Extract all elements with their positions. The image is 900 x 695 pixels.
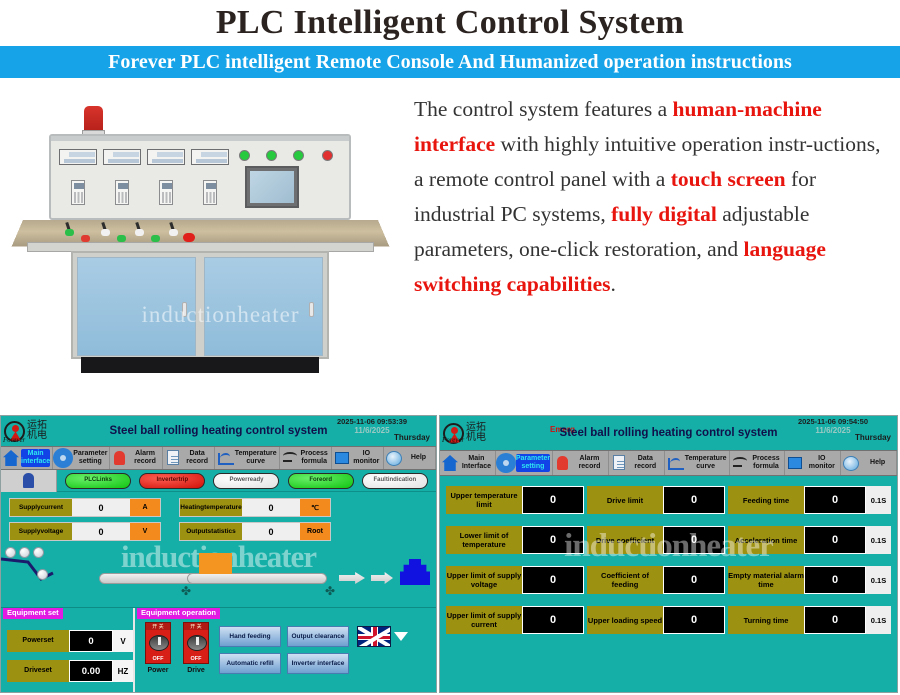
keypad-icon bbox=[159, 180, 173, 205]
power-knob-state: OFF bbox=[146, 656, 170, 662]
monitor-icon bbox=[334, 450, 350, 466]
param-label: Drive coefficient bbox=[587, 526, 663, 554]
power-knob-top-label: 开 关 bbox=[146, 623, 170, 630]
param-feeding-time[interactable]: Feeding time 0 0.1S bbox=[728, 486, 891, 514]
emergency-stop-icon bbox=[183, 226, 192, 239]
hmi-right-titlebar: 运拓 机电 Forever Emerg Steel ball rolling h… bbox=[440, 416, 897, 450]
meter-icon bbox=[191, 149, 229, 165]
param-value[interactable]: 0 bbox=[522, 606, 584, 634]
readout-unit: V bbox=[130, 523, 160, 540]
hmi-right-clock: 2025-11-06 09:54:50 11/6/2025 Thursday bbox=[773, 417, 893, 435]
monitor-icon bbox=[787, 455, 803, 471]
formula-icon bbox=[732, 455, 748, 471]
para-highlight-fully-digital: fully digital bbox=[611, 202, 717, 226]
keypad-icon bbox=[203, 180, 217, 205]
nav-label: Temperaturecurve bbox=[685, 455, 727, 471]
param-label: Acceleration time bbox=[728, 526, 804, 554]
param-value[interactable]: 0 bbox=[804, 606, 866, 634]
param-upper-limit-of-supply-voltage[interactable]: Upper limit of supply voltage 0 bbox=[446, 566, 584, 594]
readout-label: Outputstatistics bbox=[180, 523, 242, 540]
drive-set-label: Driveset bbox=[7, 660, 69, 682]
power-set-value[interactable]: 0 bbox=[69, 630, 113, 652]
console-cabinet bbox=[71, 251, 329, 359]
curve-icon bbox=[217, 450, 233, 466]
nav-label: Parametersetting bbox=[73, 450, 107, 466]
readout-label: Supplycurrent bbox=[10, 499, 72, 516]
power-set-unit: V bbox=[113, 630, 133, 652]
drive-set-unit: HZ bbox=[113, 660, 133, 682]
selector-switch-icon bbox=[169, 222, 178, 235]
param-value[interactable]: 0 bbox=[522, 526, 584, 554]
equipment-set-title: Equipment set bbox=[3, 608, 63, 619]
param-value[interactable]: 0 bbox=[522, 566, 584, 594]
param-unit: 0.1S bbox=[866, 526, 891, 554]
param-unit: 0.1S bbox=[866, 606, 891, 634]
para-highlight-interface: interface bbox=[414, 132, 495, 156]
home-icon bbox=[442, 455, 458, 471]
hmi-main-interface: 运拓 机电 Forever Steel ball rolling heating… bbox=[0, 415, 437, 693]
nav-label: Temperaturecurve bbox=[235, 450, 277, 466]
nav-label: Alarmrecord bbox=[573, 455, 606, 471]
readout-unit: A bbox=[130, 499, 160, 516]
readout-column-right: Heatingtemperature 0 ℃ Outputstatistics … bbox=[179, 498, 331, 541]
readout-value: 0 bbox=[242, 523, 300, 540]
selector-switch-icon bbox=[135, 222, 144, 235]
para-highlight-touch: touch bbox=[671, 167, 722, 191]
nav-help[interactable]: Help bbox=[384, 447, 436, 469]
readout-label: Supplyvoltage bbox=[10, 523, 72, 540]
parameter-row: Upper limit of supply current 0 Upper lo… bbox=[446, 606, 891, 634]
gear-icon bbox=[498, 455, 514, 471]
hmi-left-titlebar: 运拓 机电 Forever Steel ball rolling heating… bbox=[1, 416, 436, 446]
nav-label: Maininterface bbox=[21, 449, 50, 467]
param-drive-coefficient[interactable]: Drive coefficient 0 bbox=[587, 526, 725, 554]
nav-temperature-curve[interactable]: Temperaturecurve bbox=[215, 447, 280, 469]
readout-label: Heatingtemperature bbox=[180, 499, 242, 516]
readout-heating-temperature: Heatingtemperature 0 ℃ bbox=[179, 498, 331, 517]
parameter-row: Lower limit of temperature 0 Drive coeff… bbox=[446, 526, 891, 554]
page-title: PLC Intelligent Control System bbox=[0, 0, 900, 46]
param-drive-limit[interactable]: Drive limit 0 bbox=[587, 486, 725, 514]
readout-supply-current: Supplycurrent 0 A bbox=[9, 498, 161, 517]
document-icon bbox=[611, 455, 627, 471]
uk-flag-icon[interactable] bbox=[357, 626, 391, 647]
equipment-operation-title: Equipment operation bbox=[137, 608, 220, 619]
param-upper-temperature-limit[interactable]: Upper temperature limit 0 bbox=[446, 486, 584, 514]
drive-knob-switch[interactable]: 开 关 OFF Drive bbox=[181, 622, 211, 674]
logo-brand: Forever bbox=[3, 436, 25, 444]
para-seg-2: with highly intuitive operation instr bbox=[495, 132, 806, 156]
status-lamp-row: PLCLinks Invertertrip Powerready Foreord… bbox=[1, 470, 436, 492]
equipment-operation-group: Equipment operation 开 关 OFF Power 开 关 OF… bbox=[135, 608, 436, 693]
readout-column-left: Supplycurrent 0 A Supplyvoltage 0 V bbox=[9, 498, 161, 541]
power-set-row[interactable]: Powerset 0 V bbox=[7, 630, 133, 652]
nav-help[interactable]: Help bbox=[841, 451, 897, 475]
hmi-screenshots: 运拓 机电 Forever Steel ball rolling heating… bbox=[0, 415, 900, 695]
parameter-row: Upper limit of supply voltage 0 Coeffici… bbox=[446, 566, 891, 594]
readout-section: Supplycurrent 0 A Supplyvoltage 0 V Heat… bbox=[1, 492, 436, 543]
param-value[interactable]: 0 bbox=[522, 486, 584, 514]
output-clearance-button[interactable]: Output clearance bbox=[287, 626, 349, 647]
push-button-icon bbox=[117, 228, 126, 241]
param-lower-limit-of-temperature[interactable]: Lower limit of temperature 0 bbox=[446, 526, 584, 554]
param-acceleration-time[interactable]: Acceleration time 0 0.1S bbox=[728, 526, 891, 554]
cabinet-door bbox=[77, 257, 196, 356]
cabinet-door bbox=[204, 257, 323, 356]
indicator-lamp-icon bbox=[322, 150, 333, 161]
nav-data-record[interactable]: Datarecord bbox=[609, 451, 665, 475]
document-icon bbox=[165, 450, 181, 466]
nav-alarm-record[interactable]: Alarmrecord bbox=[553, 451, 609, 475]
push-button-icon bbox=[151, 228, 160, 241]
gear-icon bbox=[55, 450, 71, 466]
home-icon bbox=[3, 450, 19, 466]
console-upper-panel bbox=[49, 134, 351, 220]
param-coefficient-of-feeding[interactable]: Coefficient of feeding 0 bbox=[587, 566, 725, 594]
meter-icon bbox=[103, 149, 141, 165]
hmi-right-datetime: 2025-11-06 09:54:50 bbox=[773, 417, 893, 426]
nav-process-formula[interactable]: Processformula bbox=[730, 451, 786, 475]
nav-main-interface[interactable]: Maininterface bbox=[1, 447, 53, 469]
equipment-set-group: Equipment set Powerset 0 V Driveset 0.00… bbox=[1, 608, 135, 693]
param-value[interactable]: 0 bbox=[804, 486, 866, 514]
readout-value: 0 bbox=[72, 523, 130, 540]
process-mimic-diagram: inductionheater ✤ ✤ bbox=[1, 545, 436, 607]
nav-label: Help bbox=[404, 454, 433, 462]
param-unit: 0.1S bbox=[866, 566, 891, 594]
knob-dial-icon bbox=[149, 635, 169, 651]
param-value[interactable]: 0 bbox=[663, 566, 725, 594]
param-label: Upper limit of supply voltage bbox=[446, 566, 522, 594]
nav-label: IOmonitor bbox=[352, 450, 381, 466]
param-value[interactable]: 0 bbox=[663, 606, 725, 634]
param-value[interactable]: 0 bbox=[663, 486, 725, 514]
hmi-left-clock: 2025-11-06 09:53:39 11/6/2025 Thursday bbox=[312, 417, 432, 435]
param-unit: 0.1S bbox=[866, 486, 891, 514]
param-upper-limit-of-supply-current[interactable]: Upper limit of supply current 0 bbox=[446, 606, 584, 634]
alarm-icon bbox=[555, 455, 571, 471]
hmi-left-datetime: 2025-11-06 09:53:39 bbox=[312, 417, 432, 426]
nav-main-interface[interactable]: MainInterface bbox=[440, 451, 496, 475]
param-turning-time[interactable]: Turning time 0 0.1S bbox=[728, 606, 891, 634]
status-plc-links: PLCLinks bbox=[65, 473, 131, 489]
indicator-lamp-icon bbox=[239, 150, 250, 161]
param-label: Upper temperature limit bbox=[446, 486, 522, 514]
motor-icon: ✤ bbox=[325, 584, 338, 597]
help-icon bbox=[843, 456, 859, 471]
chevron-down-icon[interactable] bbox=[394, 632, 408, 641]
drive-knob-caption: Drive bbox=[181, 667, 211, 674]
nav-alarm-record[interactable]: Alarmrecord bbox=[110, 447, 162, 469]
nav-label: Processformula bbox=[300, 450, 329, 466]
para-highlight-human-machine: human-machine bbox=[673, 97, 822, 121]
nav-temperature-curve[interactable]: Temperaturecurve bbox=[665, 451, 730, 475]
param-label: Upper limit of supply current bbox=[446, 606, 522, 634]
motor-icon: ✤ bbox=[181, 584, 194, 597]
param-label: Turning time bbox=[728, 606, 804, 634]
language-selector[interactable] bbox=[357, 626, 408, 647]
operation-buttons: Hand feeding Automatic refill Output cle… bbox=[219, 626, 349, 674]
param-value[interactable]: 0 bbox=[804, 526, 866, 554]
touch-screen-panel bbox=[245, 166, 299, 208]
nav-parameter-setting[interactable]: Parametersetting bbox=[53, 447, 110, 469]
meter-icon bbox=[147, 149, 185, 165]
param-label: Feeding time bbox=[728, 486, 804, 514]
nav-io-monitor[interactable]: IOmonitor bbox=[332, 447, 384, 469]
param-empty-material-alarm-time[interactable]: Empty material alarm time 0 0.1S bbox=[728, 566, 891, 594]
selector-switch-icon bbox=[65, 222, 74, 235]
console-plinth bbox=[81, 357, 319, 373]
induction-coil-icon bbox=[199, 553, 232, 574]
hmi-right-weekday: Thursday bbox=[855, 433, 891, 442]
power-set-label: Powerset bbox=[7, 630, 69, 652]
hmi-left-bottom: Equipment set Powerset 0 V Driveset 0.00… bbox=[1, 607, 436, 693]
nav-process-formula[interactable]: Processformula bbox=[280, 447, 332, 469]
readout-unit: Root bbox=[300, 523, 330, 540]
readout-value: 0 bbox=[72, 499, 130, 516]
readout-unit: ℃ bbox=[300, 499, 330, 516]
status-fault-indication: Faultindication bbox=[362, 473, 428, 489]
knob-dial-icon bbox=[187, 635, 207, 651]
indicator-lamp-icon bbox=[293, 150, 304, 161]
param-label: Lower limit of temperature bbox=[446, 526, 522, 554]
hmi-left-weekday: Thursday bbox=[394, 433, 430, 442]
inverter-interface-button[interactable]: Inverter interface bbox=[287, 653, 349, 674]
control-console-photo: inductionheater bbox=[0, 78, 400, 415]
status-power-ready: Powerready bbox=[213, 473, 279, 489]
param-upper-loading-speed[interactable]: Upper loading speed 0 bbox=[587, 606, 725, 634]
param-value[interactable]: 0 bbox=[804, 566, 866, 594]
drive-knob-state: OFF bbox=[184, 656, 208, 662]
formula-icon bbox=[282, 450, 298, 466]
feed-chute bbox=[1, 557, 97, 585]
nav-io-monitor[interactable]: IOmonitor bbox=[785, 451, 841, 475]
description-paragraph: The control system features a human-mach… bbox=[400, 78, 900, 415]
automatic-refill-button[interactable]: Automatic refill bbox=[219, 653, 281, 674]
power-knob-switch[interactable]: 开 关 OFF Power bbox=[143, 622, 173, 674]
subtitle-bar: Forever PLC intelligent Remote Console A… bbox=[0, 46, 900, 78]
para-seg-1: The control system features a bbox=[414, 97, 673, 121]
nav-label: IOmonitor bbox=[805, 455, 838, 471]
alarm-beacon-icon bbox=[84, 106, 103, 132]
parameter-grid: Upper temperature limit 0 Drive limit 0 … bbox=[440, 476, 897, 634]
drive-set-value[interactable]: 0.00 bbox=[69, 660, 113, 682]
param-label: Empty material alarm time bbox=[728, 566, 804, 594]
parameter-row: Upper temperature limit 0 Drive limit 0 … bbox=[446, 486, 891, 514]
nav-label: Datarecord bbox=[183, 450, 212, 466]
hmi-right-navbar: MainInterface Parametersetting Alarmreco… bbox=[440, 450, 897, 476]
keypad-icon bbox=[115, 180, 129, 205]
nav-label: Datarecord bbox=[629, 455, 662, 471]
hmi-parameter-setting: 运拓 机电 Forever Emerg Steel ball rolling h… bbox=[439, 415, 898, 693]
curve-icon bbox=[667, 455, 683, 471]
nav-data-record[interactable]: Datarecord bbox=[163, 447, 215, 469]
intro-section: inductionheater The control system featu… bbox=[0, 78, 900, 415]
nav-label: Processformula bbox=[750, 455, 783, 471]
readout-value: 0 bbox=[242, 499, 300, 516]
status-inverter-trip: Invertertrip bbox=[139, 473, 205, 489]
keypad-icon bbox=[71, 180, 85, 205]
hmi-left-navbar: Maininterface Parametersetting Alarmreco… bbox=[1, 446, 436, 470]
subtitle-text: Forever PLC intelligent Remote Console A… bbox=[108, 51, 792, 74]
conveyor-belt-segment-2 bbox=[187, 573, 327, 584]
param-value[interactable]: 0 bbox=[663, 526, 725, 554]
steel-ball-icon bbox=[37, 569, 48, 580]
para-seg-7: . bbox=[611, 272, 616, 296]
para-seg-6: and bbox=[707, 237, 743, 261]
indicator-lamp-icon bbox=[266, 150, 277, 161]
meter-icon bbox=[59, 149, 97, 165]
console-illustration: inductionheater bbox=[23, 102, 378, 392]
param-label: Drive limit bbox=[587, 486, 663, 514]
nav-parameter-setting[interactable]: Parametersetting bbox=[496, 451, 553, 475]
selector-switch-icon bbox=[101, 222, 110, 235]
power-knob-caption: Power bbox=[143, 667, 173, 674]
nav-label: Parametersetting bbox=[516, 454, 550, 472]
hand-feeding-button[interactable]: Hand feeding bbox=[219, 626, 281, 647]
status-foreord: Foreord bbox=[288, 473, 354, 489]
buzzer-icon[interactable] bbox=[1, 470, 57, 492]
help-icon bbox=[386, 451, 402, 466]
drive-knob-top-label: 开 关 bbox=[184, 623, 208, 630]
alarm-icon bbox=[112, 450, 128, 466]
param-label: Upper loading speed bbox=[587, 606, 663, 634]
nav-label: Alarmrecord bbox=[130, 450, 159, 466]
push-button-icon bbox=[81, 228, 90, 241]
drive-set-row[interactable]: Driveset 0.00 HZ bbox=[7, 660, 133, 682]
nav-label: MainInterface bbox=[460, 455, 493, 471]
nav-label: Help bbox=[861, 459, 894, 467]
param-label: Coefficient of feeding bbox=[587, 566, 663, 594]
para-highlight-screen: screen bbox=[727, 167, 785, 191]
